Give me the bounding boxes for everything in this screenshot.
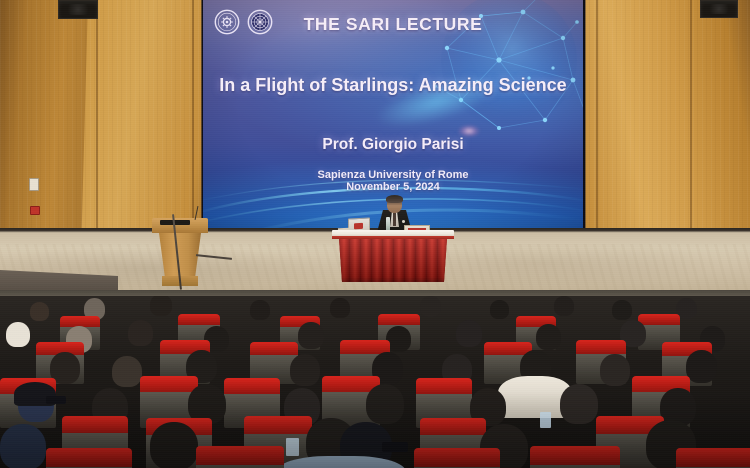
table-skirt: [339, 239, 447, 282]
audience-head: [456, 320, 482, 347]
slide-header: THE SARI LECTURE: [203, 14, 583, 35]
audience-head: [366, 384, 404, 424]
audience-head: [128, 320, 153, 346]
water-bottle-icon: [386, 217, 390, 231]
presenter-hair: [386, 195, 403, 203]
phone-screen: [540, 412, 551, 428]
audience-head: [600, 354, 630, 386]
audience-head: [612, 300, 632, 320]
slide-speaker: Prof. Giorgio Parisi: [203, 136, 583, 154]
presenter-table: [332, 230, 454, 292]
audience-head: [112, 356, 142, 387]
audience-head: [298, 322, 324, 349]
audience-seat[interactable]: [676, 448, 750, 468]
audience-seat[interactable]: [196, 446, 284, 468]
audience-head: [0, 424, 46, 468]
audience-head: [150, 296, 172, 316]
audience-head: [6, 322, 30, 347]
audience-seating: [0, 296, 750, 468]
audience-head: [250, 300, 270, 320]
fire-alarm-icon[interactable]: [30, 206, 40, 215]
slide-title: In a Flight of Starlings: Amazing Scienc…: [203, 75, 583, 96]
audience-head: [30, 302, 49, 321]
audience-seat[interactable]: [46, 448, 132, 468]
audience-head: [536, 324, 561, 350]
slide-affiliation: Sapienza University of Rome: [203, 168, 583, 182]
audience-seat[interactable]: [414, 448, 500, 468]
audience-head: [686, 350, 717, 383]
cap-brim: [46, 396, 66, 404]
audience-head: [290, 354, 320, 386]
ceiling-speaker-left-icon: [58, 0, 98, 19]
presenter-badge: [402, 220, 405, 223]
audience-head: [554, 296, 574, 316]
slide-date: November 5, 2024: [203, 181, 583, 193]
audience-head: [150, 422, 198, 468]
audience-head: [560, 384, 598, 424]
audience-head: [490, 300, 509, 319]
audience-head: [420, 296, 441, 317]
audience-seat[interactable]: [530, 446, 620, 468]
audience-head: [330, 298, 350, 318]
phone-screen: [286, 438, 299, 456]
lecture-hall-photo: THE SARI LECTURE In a Flight of Starling…: [0, 0, 750, 468]
podium-top: [152, 218, 208, 233]
cap-brim: [382, 442, 408, 452]
tabletop-trim: [332, 236, 454, 239]
podium-body: [159, 233, 201, 278]
presenter-tie: [393, 213, 396, 226]
light-switch-icon[interactable]: [29, 178, 39, 191]
ceiling-speaker-right-icon: [700, 0, 738, 18]
